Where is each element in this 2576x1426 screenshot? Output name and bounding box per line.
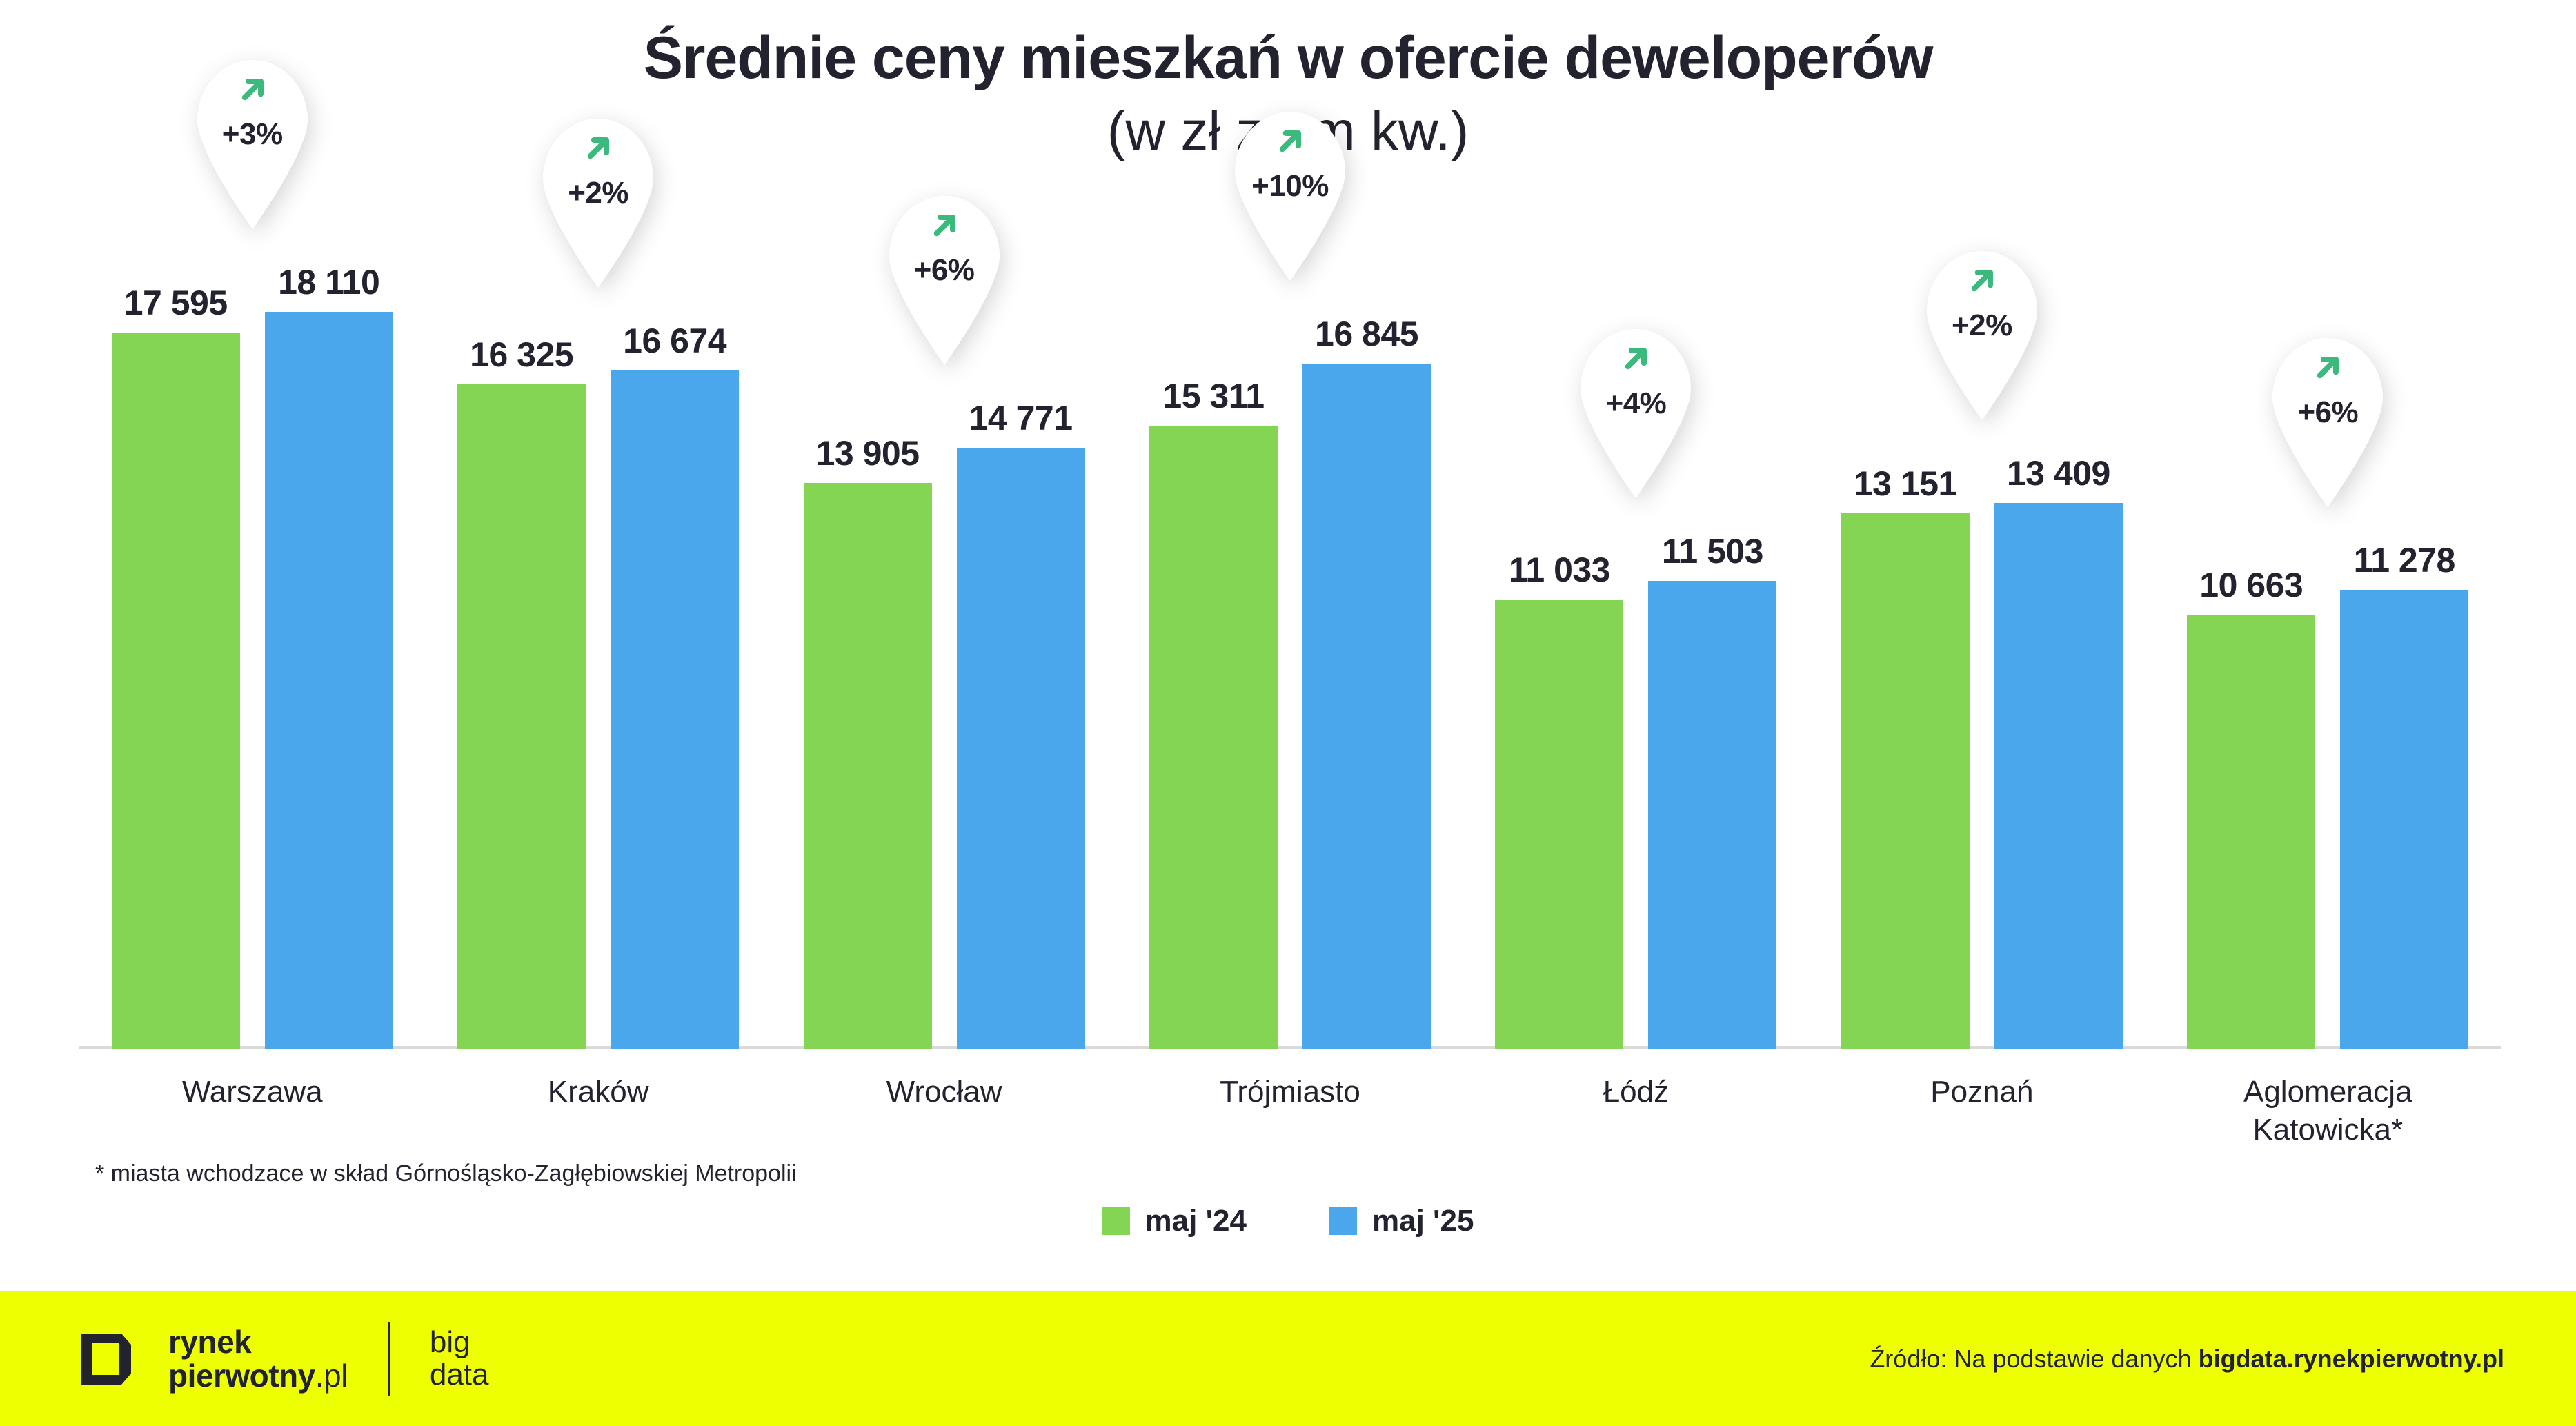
- bar-column: 17 595: [112, 255, 240, 1049]
- bar-value-label: 11 503: [1662, 531, 1763, 571]
- brand-wordmark: rynek pierwotny.pl: [168, 1325, 348, 1392]
- bar-maj-24[interactable]: [457, 384, 586, 1049]
- bar-group: 15 31116 845+10%: [1117, 255, 1463, 1049]
- source-attribution: Źródło: Na podstawie danych bigdata.ryne…: [1870, 1345, 2504, 1374]
- growth-pin-badge: +3%: [191, 57, 314, 229]
- category-label-line: Poznań: [1809, 1073, 2154, 1111]
- bar-group: 10 66311 278+6%: [2155, 255, 2501, 1049]
- growth-percent-label: +3%: [191, 117, 314, 152]
- bar-value-label: 13 409: [2007, 453, 2110, 493]
- legend-item[interactable]: maj '25: [1329, 1204, 1474, 1238]
- bar-value-label: 15 311: [1162, 376, 1264, 416]
- chart-title: Średnie ceny mieszkań w ofercie dewelope…: [0, 25, 2576, 91]
- growth-pin-badge: +6%: [2266, 335, 2389, 507]
- brand-line-1: rynek: [168, 1325, 348, 1358]
- category-label-line: Warszawa: [79, 1073, 425, 1111]
- category-label: Wrocław: [771, 1073, 1117, 1111]
- growth-pin-badge: +6%: [883, 192, 1006, 365]
- bar-maj-25[interactable]: [611, 370, 739, 1049]
- category-label-line: Katowicka*: [2155, 1111, 2501, 1149]
- arrow-up-right-icon: [577, 128, 619, 169]
- bar-maj-24[interactable]: [2187, 615, 2315, 1049]
- source-link[interactable]: bigdata.rynekpierwotny.pl: [2199, 1345, 2504, 1373]
- bar-group: 16 32516 674+2%: [425, 255, 771, 1049]
- brand-tld: .pl: [315, 1358, 348, 1394]
- bar-value-label: 16 845: [1315, 314, 1418, 354]
- category-label-line: Łódź: [1463, 1073, 1809, 1111]
- arrow-up-right-icon: [1961, 260, 2003, 301]
- bar-group: 13 15113 409+2%: [1809, 255, 2154, 1049]
- bar-maj-25[interactable]: [1648, 581, 1776, 1049]
- footer-bar: rynek pierwotny.pl big data Źródło: Na p…: [0, 1291, 2576, 1426]
- bar-pair: 16 32516 674: [425, 255, 771, 1049]
- chart-legend: maj '24maj '25: [0, 1204, 2576, 1238]
- growth-percent-label: +4%: [1574, 386, 1697, 421]
- arrow-up-right-icon: [1269, 121, 1311, 162]
- legend-swatch: [1102, 1207, 1130, 1235]
- arrow-up-right-icon: [2307, 347, 2348, 388]
- bar-column: 18 110: [265, 255, 393, 1049]
- category-label: AglomeracjaKatowicka*: [2155, 1073, 2501, 1149]
- category-label: Kraków: [425, 1073, 771, 1111]
- arrow-up-right-icon: [1615, 338, 1656, 379]
- bar-value-label: 11 033: [1509, 550, 1610, 590]
- category-label: Warszawa: [79, 1073, 425, 1111]
- category-label-line: Wrocław: [771, 1073, 1117, 1111]
- category-label: Trójmiasto: [1117, 1073, 1463, 1111]
- bar-group: 13 90514 771+6%: [771, 255, 1117, 1049]
- growth-pin-badge: +4%: [1574, 326, 1697, 498]
- brand-line-2: pierwotny.pl: [168, 1359, 348, 1392]
- bigdata-line-2: data: [430, 1359, 489, 1391]
- source-prefix: Źródło: Na podstawie danych: [1870, 1345, 2198, 1373]
- arrow-up-right-icon: [924, 205, 965, 246]
- bar-column: 14 771: [957, 255, 1085, 1049]
- legend-label: maj '25: [1372, 1204, 1474, 1238]
- brand-line-2-text: pierwotny: [168, 1358, 315, 1394]
- category-label-line: Trójmiasto: [1117, 1073, 1463, 1111]
- growth-pin-badge: +10%: [1229, 108, 1351, 281]
- bar-value-label: 16 674: [623, 321, 726, 361]
- bar-maj-24[interactable]: [1495, 600, 1623, 1049]
- growth-percent-label: +2%: [537, 176, 660, 210]
- infographic-canvas: Średnie ceny mieszkań w ofercie dewelope…: [0, 0, 2576, 1426]
- bar-maj-24[interactable]: [804, 483, 932, 1049]
- bar-maj-24[interactable]: [112, 333, 240, 1049]
- bar-value-label: 11 278: [2354, 540, 2455, 580]
- bar-value-label: 10 663: [2199, 565, 2303, 605]
- bar-group: 11 03311 503+4%: [1463, 255, 1809, 1049]
- category-label-line: Aglomeracja: [2155, 1073, 2501, 1111]
- category-label: Poznań: [1809, 1073, 2154, 1111]
- bar-column: 16 674: [611, 255, 739, 1049]
- category-label-line: Kraków: [425, 1073, 771, 1111]
- bar-maj-25[interactable]: [2340, 590, 2468, 1049]
- legend-label: maj '24: [1145, 1204, 1247, 1238]
- legend-item[interactable]: maj '24: [1102, 1204, 1247, 1238]
- bar-maj-25[interactable]: [265, 312, 393, 1049]
- bar-maj-24[interactable]: [1149, 426, 1278, 1049]
- bar-pair: 13 90514 771: [771, 255, 1117, 1049]
- rynek-pierwotny-logo-icon: [72, 1329, 139, 1389]
- footnote: * miasta wchodzace w skład Górnośląsko-Z…: [95, 1160, 797, 1187]
- growth-percent-label: +6%: [2266, 395, 2389, 430]
- bar-column: 16 325: [457, 255, 586, 1049]
- growth-percent-label: +2%: [1921, 308, 2043, 343]
- bar-value-label: 18 110: [278, 262, 379, 302]
- bar-maj-24[interactable]: [1841, 513, 1970, 1049]
- bar-value-label: 16 325: [470, 335, 573, 375]
- arrow-up-right-icon: [232, 69, 273, 110]
- bar-pair: 17 59518 110: [79, 255, 425, 1049]
- bar-column: 16 845: [1302, 255, 1431, 1049]
- category-label: Łódź: [1463, 1073, 1809, 1111]
- bar-value-label: 13 151: [1854, 464, 1957, 504]
- bar-value-label: 14 771: [969, 398, 1073, 438]
- bar-value-label: 17 595: [124, 283, 228, 323]
- bar-maj-25[interactable]: [957, 448, 1085, 1049]
- plot-area: 17 59518 110+3%16 32516 674+2%13 90514 7…: [79, 255, 2501, 1049]
- brand-logo[interactable]: rynek pierwotny.pl big data: [72, 1322, 488, 1396]
- bar-maj-25[interactable]: [1302, 364, 1431, 1049]
- growth-pin-badge: +2%: [537, 115, 660, 288]
- bar-column: 15 311: [1149, 255, 1278, 1049]
- bar-column: 13 905: [804, 255, 932, 1049]
- bar-group: 17 59518 110+3%: [79, 255, 425, 1049]
- bigdata-line-1: big: [430, 1327, 489, 1358]
- bigdata-wordmark: big data: [430, 1327, 489, 1390]
- logo-divider: [388, 1322, 390, 1396]
- bar-maj-25[interactable]: [1994, 503, 2123, 1049]
- growth-pin-badge: +2%: [1921, 248, 2043, 420]
- bar-pair: 15 31116 845: [1117, 255, 1463, 1049]
- bar-value-label: 13 905: [816, 433, 920, 473]
- legend-swatch: [1329, 1207, 1357, 1235]
- growth-percent-label: +6%: [883, 253, 1006, 288]
- growth-percent-label: +10%: [1229, 169, 1351, 204]
